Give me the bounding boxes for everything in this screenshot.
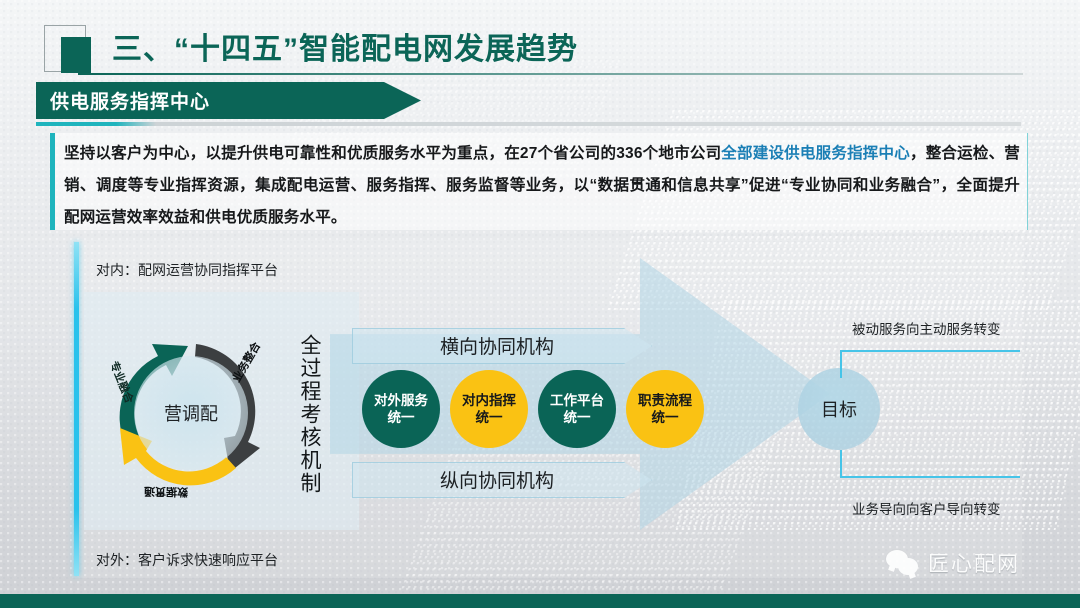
section-banner: 供电服务指挥中心 bbox=[36, 82, 421, 119]
watermark: 匠心配网 bbox=[886, 548, 1020, 578]
unify-circle: 对内指挥 统一 bbox=[450, 370, 528, 448]
banner-underline bbox=[36, 122, 1021, 126]
horizontal-coordination-label: 横向协同机构 bbox=[440, 332, 554, 359]
unify-circle-line2: 统一 bbox=[388, 409, 415, 426]
section-banner-label: 供电服务指挥中心 bbox=[50, 87, 210, 114]
paragraph-highlight: 全部建设供电服务指挥中心 bbox=[721, 145, 910, 162]
diagram-note-external: 对外：客户诉求快速响应平台 bbox=[96, 550, 278, 570]
target-circle: 目标 bbox=[798, 368, 880, 450]
header-divider bbox=[78, 73, 1023, 75]
target-leader-line-top bbox=[840, 350, 1020, 352]
cycle-arc-label-3: 数据贯通 bbox=[144, 484, 188, 501]
unify-circle-line1: 职责流程 bbox=[638, 392, 692, 409]
target-leader-tick-top bbox=[840, 350, 842, 378]
target-leader-tick-bottom bbox=[840, 450, 842, 478]
target-leader-line-bottom bbox=[840, 476, 1020, 478]
diagram-note-internal: 对内：配网运营协同指挥平台 bbox=[96, 260, 278, 280]
target-label: 目标 bbox=[821, 396, 857, 422]
wechat-icon bbox=[886, 550, 920, 576]
diagram-accent-bar bbox=[74, 242, 79, 576]
vertical-coordination-label: 纵向协同机构 bbox=[440, 466, 554, 493]
target-note-top: 被动服务向主动服务转变 bbox=[852, 318, 1001, 338]
unify-circle-line2: 统一 bbox=[652, 409, 679, 426]
assessment-mechanism-label: 全过程考核机制 bbox=[298, 334, 320, 495]
unify-circle: 对外服务 统一 bbox=[362, 370, 440, 448]
unify-circle: 职责流程 统一 bbox=[626, 370, 704, 448]
filled-square-icon bbox=[61, 37, 91, 73]
cycle-diagram: 营调配 专业融合 业务整合 数据贯通 bbox=[96, 318, 286, 508]
target-note-bottom: 业务导向向客户导向转变 bbox=[852, 498, 1001, 518]
unify-circle: 工作平台 统一 bbox=[538, 370, 616, 448]
paragraph-segment-1: 坚持以客户为中心，以提升供电可靠性和优质服务水平为重点，在27个省公司的336个… bbox=[64, 145, 721, 162]
watermark-label: 匠心配网 bbox=[928, 548, 1020, 578]
unify-circle-row: 对外服务 统一 对内指挥 统一 工作平台 统一 职责流程 统一 bbox=[362, 370, 712, 450]
summary-paragraph: 坚持以客户为中心，以提升供电可靠性和优质服务水平为重点，在27个省公司的336个… bbox=[64, 138, 1020, 234]
unify-circle-line2: 统一 bbox=[564, 409, 591, 426]
unify-circle-line1: 对内指挥 bbox=[462, 392, 516, 409]
footer-bar bbox=[0, 594, 1080, 608]
unify-circle-line1: 工作平台 bbox=[550, 392, 604, 409]
unify-circle-line2: 统一 bbox=[476, 409, 503, 426]
page-title: 三、“十四五”智能配电网发展趋势 bbox=[112, 24, 578, 68]
unify-circle-line1: 对外服务 bbox=[374, 392, 428, 409]
